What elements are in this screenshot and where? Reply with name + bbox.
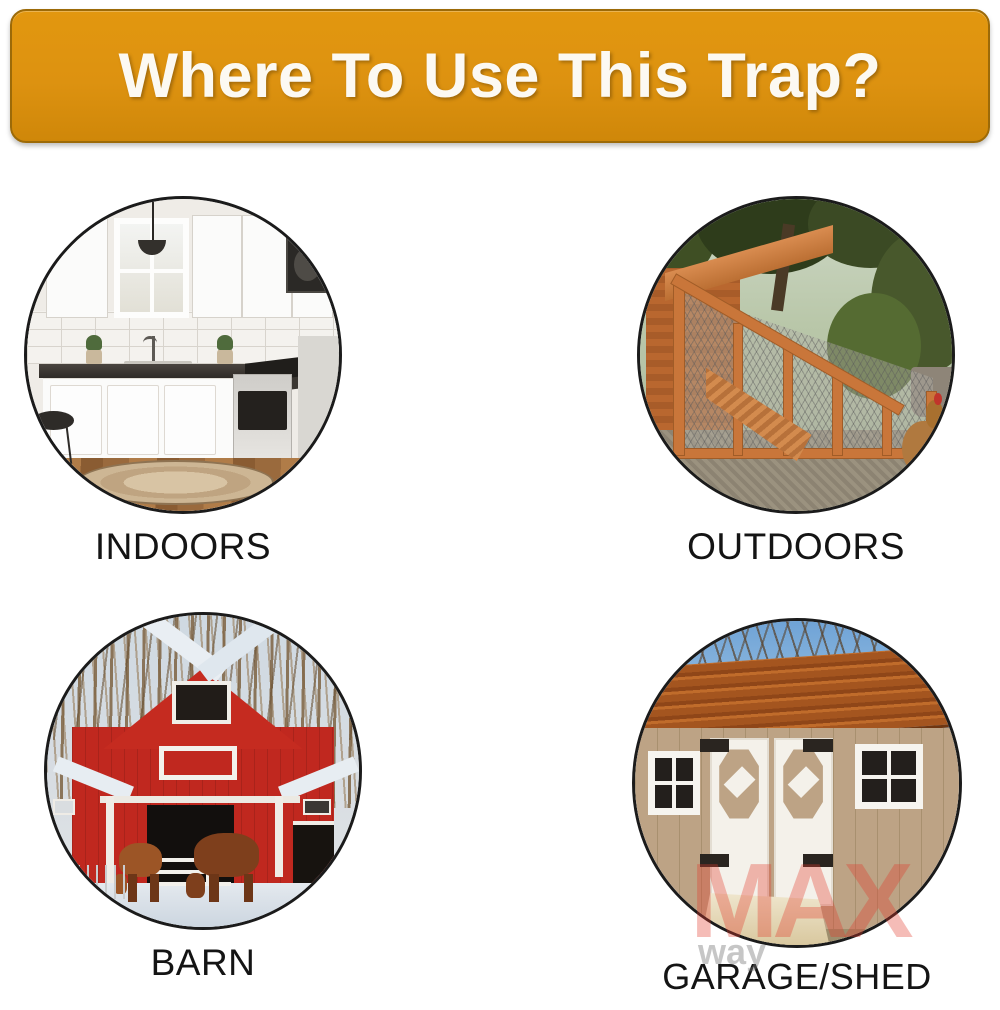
barn-small-window (303, 799, 331, 815)
chicken (902, 421, 943, 474)
frame-beam (674, 280, 683, 455)
door-hinge (803, 854, 832, 867)
sliding-door-track (100, 796, 300, 803)
barn-scene (47, 615, 359, 927)
red-barn-photo (44, 612, 362, 930)
shed-door-right (774, 738, 833, 906)
shed-photo (632, 618, 962, 948)
faucet (152, 336, 155, 364)
kitchen-photo (24, 196, 342, 514)
location-caption-indoors: INDOORS (24, 526, 342, 568)
location-card-indoors[interactable]: INDOORS (24, 196, 342, 588)
shed-double-doors (710, 738, 833, 906)
location-caption-barn: BARN (44, 942, 362, 984)
location-card-barn[interactable]: BARN (44, 612, 362, 1004)
horse-leg (244, 874, 253, 902)
chicken-coop-photo (637, 196, 955, 514)
oval-rug (77, 460, 274, 505)
pendant-cord (152, 199, 154, 243)
upper-cabinet (192, 215, 242, 318)
header-banner: Where To Use This Trap? (10, 9, 990, 143)
location-caption-outdoors: OUTDOORS (637, 526, 955, 568)
chicken-coop-scene (640, 199, 952, 511)
barn-trim (275, 796, 283, 877)
upper-cabinet (46, 215, 108, 318)
shed-door-left (710, 738, 769, 906)
horse-leg (150, 874, 159, 902)
location-card-garage-shed[interactable]: GARAGE/SHED (632, 618, 962, 1010)
subway-tile-backsplash (27, 311, 339, 364)
kitchen-scene (27, 199, 339, 511)
page-title: Where To Use This Trap? (119, 45, 882, 108)
cabinet-door (164, 385, 215, 455)
shed-window-left (648, 751, 700, 816)
door-hinge (700, 854, 729, 867)
barn-window (159, 746, 237, 780)
barn-small-window (53, 799, 75, 815)
cabinet-door (107, 385, 158, 455)
barn-side-door (293, 821, 334, 883)
wooden-ramp (700, 893, 830, 945)
shed-scene (635, 621, 959, 945)
shed-window-right (855, 744, 923, 809)
microwave (286, 236, 339, 292)
location-caption-garage-shed: GARAGE/SHED (632, 956, 962, 998)
frame-beam (833, 374, 841, 455)
door-hinge (803, 739, 832, 752)
oven-range (233, 374, 292, 468)
frame-beam (677, 449, 933, 458)
potted-plant (86, 349, 102, 365)
upper-cabinet (242, 215, 292, 318)
horse-leg (209, 874, 218, 902)
horse-leg (128, 874, 137, 902)
horse (194, 833, 260, 877)
wire-fence (78, 865, 128, 899)
potted-plant (217, 349, 233, 365)
location-card-outdoors[interactable]: OUTDOORS (637, 196, 955, 588)
locations-grid: INDOORS (0, 150, 1000, 1000)
hayloft-opening (172, 681, 231, 725)
door-hinge (700, 739, 729, 752)
refrigerator (298, 336, 339, 461)
